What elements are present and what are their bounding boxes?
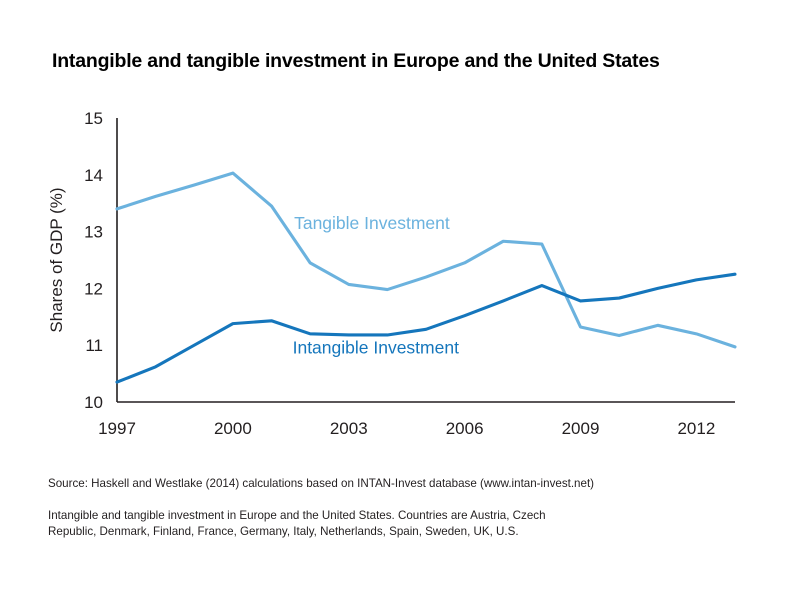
series-line-tangible-investment	[117, 173, 735, 347]
y-tick-label: 11	[85, 336, 103, 355]
x-tick-label: 2000	[214, 419, 252, 438]
y-tick-label: 10	[84, 393, 103, 412]
footnotes: Source: Haskell and Westlake (2014) calc…	[48, 476, 748, 541]
chart-figure: Intangible and tangible investment in Eu…	[0, 0, 800, 590]
y-tick-label: 15	[84, 109, 103, 128]
series-label-intangible-investment: Intangible Investment	[293, 338, 459, 358]
x-tick-label: 2003	[330, 419, 368, 438]
y-axis-title: Shares of GDP (%)	[47, 187, 66, 332]
y-tick-label: 12	[84, 279, 103, 298]
x-tick-label: 1997	[98, 419, 136, 438]
y-tick-label: 13	[84, 223, 103, 242]
x-tick-label: 2009	[562, 419, 600, 438]
series-label-tangible-investment: Tangible Investment	[294, 213, 450, 233]
x-tick-label: 2006	[446, 419, 484, 438]
x-tick-label: 2012	[677, 419, 715, 438]
footnote-source: Source: Haskell and Westlake (2014) calc…	[48, 476, 748, 492]
y-tick-label: 14	[84, 166, 103, 185]
footnote-note: Intangible and tangible investment in Eu…	[48, 508, 593, 542]
